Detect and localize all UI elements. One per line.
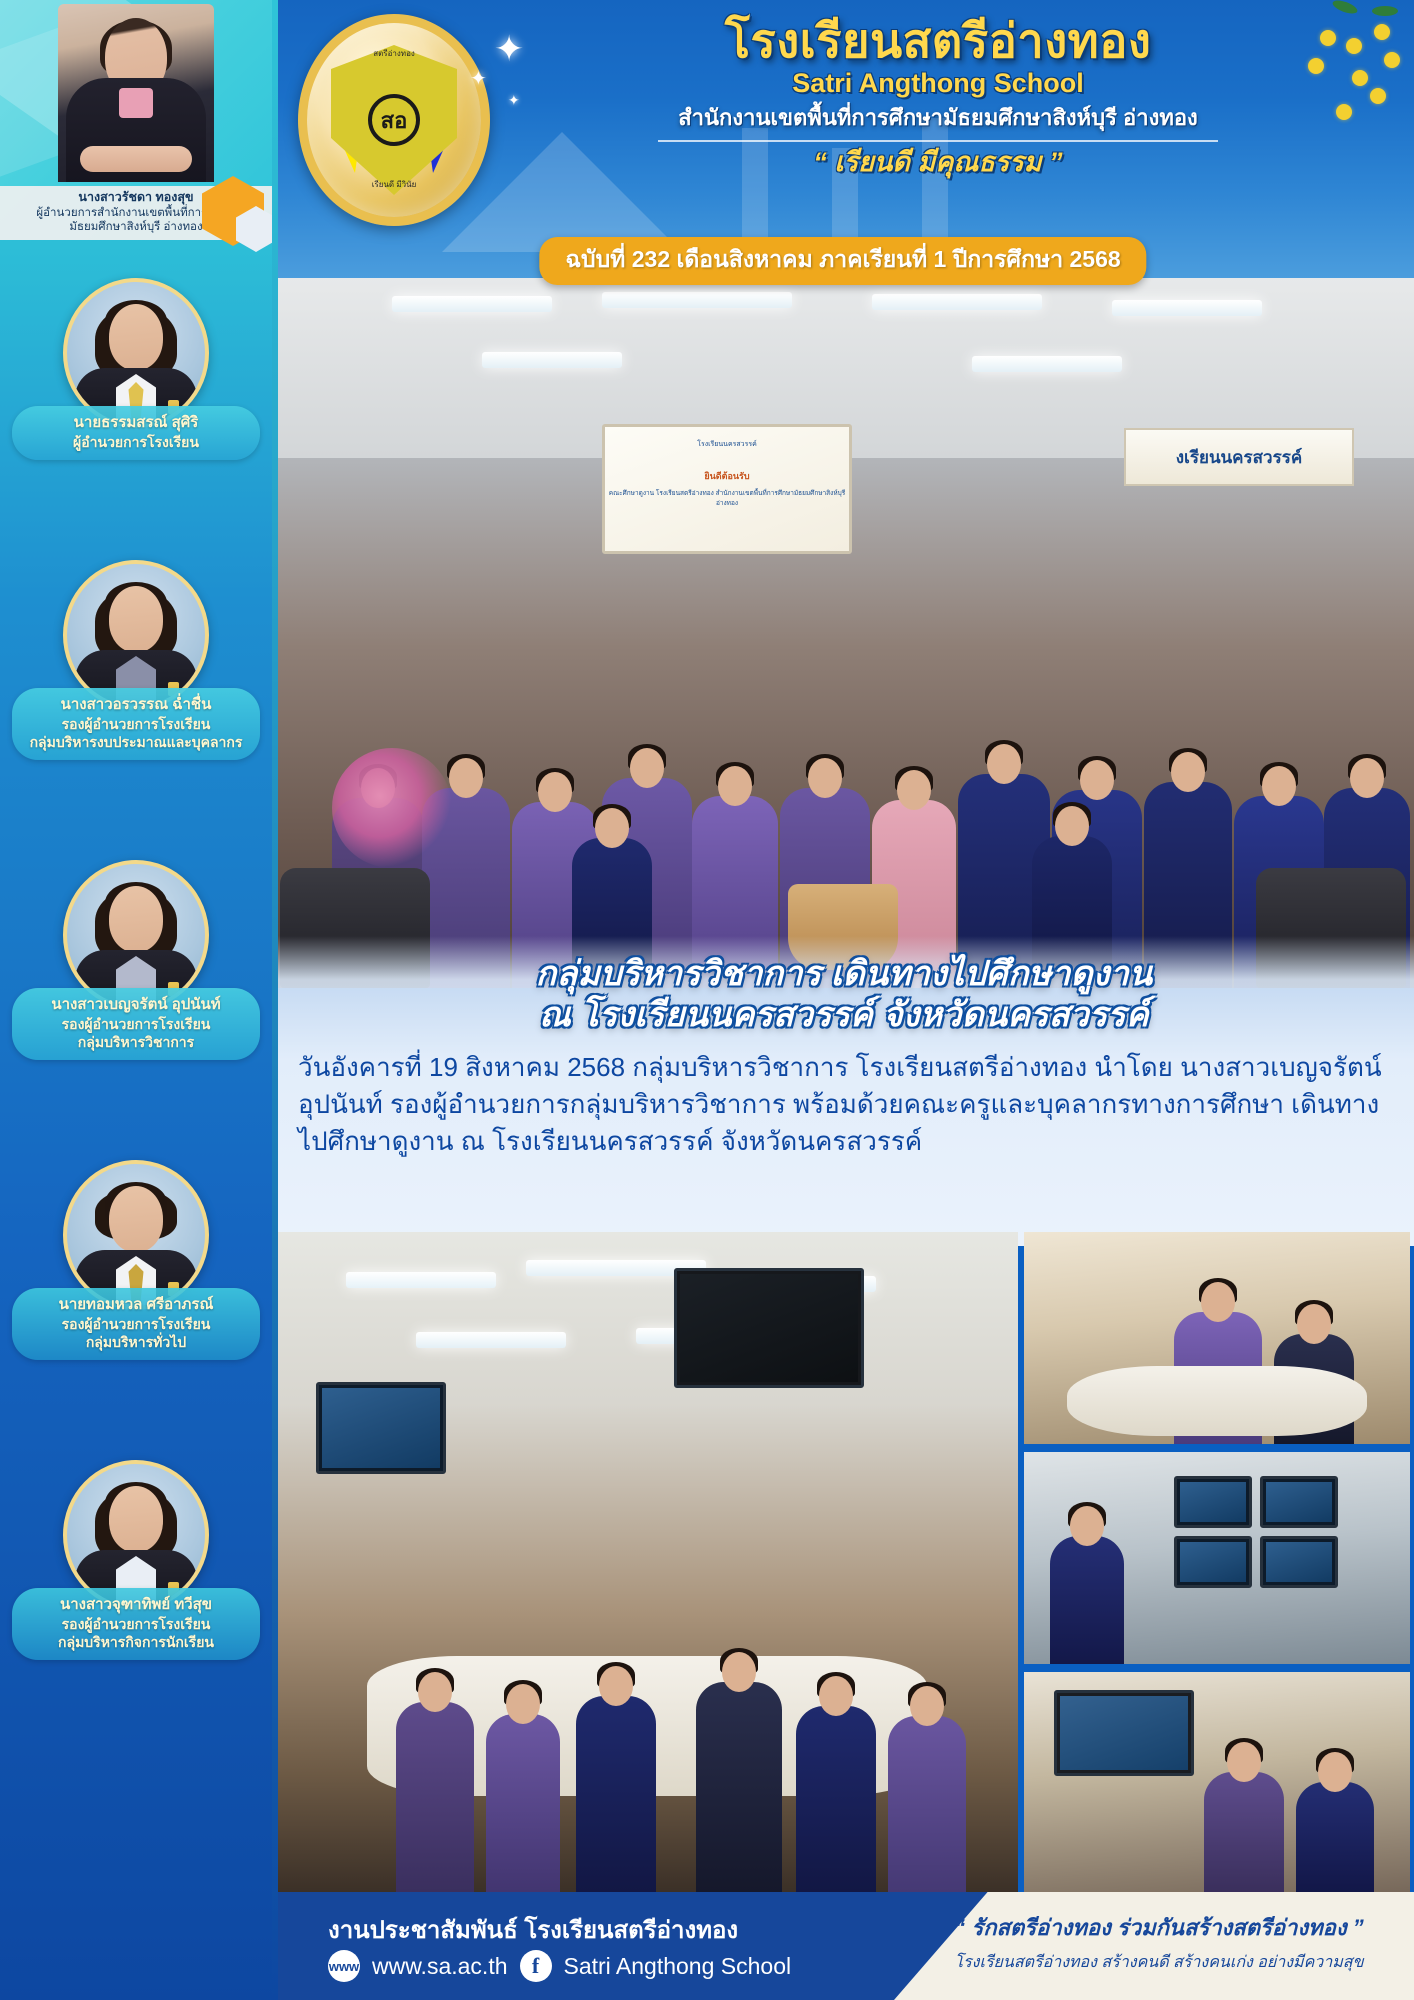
flower-decor: [332, 748, 452, 868]
article-headline-line1: กลุ่มบริหารวิชาการ เดินทางไปศึกษาดูงาน: [298, 954, 1390, 995]
photo-grid: [272, 1232, 1414, 1892]
grid-photo-bottom-right: [1024, 1672, 1410, 1892]
person-role-1: รองผู้อำนวยการโรงเรียน: [20, 1615, 252, 1633]
sidebar-divider: [272, 0, 278, 2000]
person-role-1: รองผู้อำนวยการโรงเรียน: [20, 715, 252, 733]
person-role-2: กลุ่มบริหารงบประมาณและบุคลากร: [20, 733, 252, 751]
sparkle-icon: ✦: [470, 66, 487, 91]
sidebar-person-0-caption: นายธรรมสรณ์ สุศิริ ผู้อำนวยการโรงเรียน: [12, 406, 260, 460]
poster-footer: งานประชาสัมพันธ์ โรงเรียนสตรีอ่างทอง www…: [272, 1892, 1414, 2000]
person-role-1: รองผู้อำนวยการโรงเรียน: [20, 1015, 252, 1033]
group-photo-people: [272, 558, 1414, 988]
footer-organization: งานประชาสัมพันธ์ โรงเรียนสตรีอ่างทอง: [328, 1910, 738, 1949]
header-text-block: โรงเรียนสตรีอ่างทอง Satri Angthong Schoo…: [508, 16, 1368, 178]
article-headline-line2: ณ โรงเรียนนครสวรรค์ จังหวัดนครสวรรค์: [298, 995, 1390, 1036]
person-name: นางสาวเบญจรัตน์ อุปนันท์: [20, 995, 252, 1015]
screen-welcome: ยินดีต้อนรับ: [605, 469, 849, 483]
screen-body: คณะศึกษาดูงาน โรงเรียนสตรีอ่างทอง สำนักง…: [605, 489, 849, 509]
area-office-label: สำนักงานเขตพื้นที่การศึกษามัธยมศึกษาสิงห…: [508, 104, 1368, 133]
sidebar-person-3-caption: นายทอมหวล ศรีอาภรณ์ รองผู้อำนวยการโรงเรี…: [12, 1288, 260, 1360]
sidebar-person-1-caption: นางสาวอรวรรณ ฉ่ำชื่น รองผู้อำนวยการโรงเร…: [12, 688, 260, 760]
person-role-2: กลุ่มบริหารกิจการนักเรียน: [20, 1633, 252, 1651]
logo-monogram: สอ: [368, 94, 420, 146]
newsletter-poster: นางสาวรัชดา ทองสุข ผู้อำนวยการสำนักงานเข…: [0, 0, 1414, 2000]
wall-banner: งเรียนนครสวรรค์: [1124, 428, 1354, 486]
header-rule: [658, 140, 1218, 142]
person-role-2: กลุ่มบริหารวิชาการ: [20, 1033, 252, 1051]
grid-photo-middle-right: [1024, 1452, 1410, 1664]
sidebar: นางสาวรัชดา ทองสุข ผู้อำนวยการสำนักงานเข…: [0, 0, 272, 2000]
grid-photo-main: [276, 1232, 1018, 1892]
person-role-2: กลุ่มบริหารทั่วไป: [20, 1333, 252, 1351]
footer-website[interactable]: www.sa.ac.th: [372, 1953, 508, 1980]
main-column: สอ สตรีอ่างทอง เรียนดี มีวินัย ✦ ✦ ✦ โรง…: [272, 0, 1414, 2000]
footer-motto: “ รักสตรีอ่างทอง ร่วมกันสร้างสตรีอ่างทอง…: [924, 1910, 1394, 1945]
person-name: นางสาวอรวรรณ ฉ่ำชื่น: [20, 695, 252, 715]
screen-title: โรงเรียนนครสวรรค์: [605, 439, 849, 450]
school-name-english: Satri Angthong School: [508, 67, 1368, 101]
school-name-thai: โรงเรียนสตรีอ่างทอง: [508, 16, 1368, 65]
www-icon: www: [328, 1950, 360, 1982]
director-office-photo: [58, 4, 214, 182]
hero-photo-group: โรงเรียนนครสวรรค์ ยินดีต้อนรับ คณะศึกษาด…: [272, 278, 1414, 988]
article-body: วันอังคารที่ 19 สิงหาคม 2568 กลุ่มบริหาร…: [298, 1049, 1390, 1160]
person-name: นายธรรมสรณ์ สุศิริ: [20, 413, 252, 433]
person-role-1: รองผู้อำนวยการโรงเรียน: [20, 1315, 252, 1333]
grid-photo-top-right: [1024, 1232, 1410, 1444]
sidebar-person-2-caption: นางสาวเบญจรัตน์ อุปนันท์ รองผู้อำนวยการโ…: [12, 988, 260, 1060]
person-name: นายทอมหวล ศรีอาภรณ์: [20, 1295, 252, 1315]
footer-sub-motto: โรงเรียนสตรีอ่างทอง สร้างคนดี สร้างคนเก่…: [924, 1950, 1394, 1975]
footer-facebook-name[interactable]: Satri Angthong School: [564, 1953, 792, 1980]
school-logo: สอ สตรีอ่างทอง เรียนดี มีวินัย: [298, 14, 490, 226]
article-block: กลุ่มบริหารวิชาการ เดินทางไปศึกษาดูงาน ณ…: [272, 936, 1414, 1246]
sidebar-person-4-caption: นางสาวจุฑาทิพย์ ทวีสุข รองผู้อำนวยการโรง…: [12, 1588, 260, 1660]
facebook-icon[interactable]: f: [520, 1950, 552, 1982]
person-role-1: ผู้อำนวยการโรงเรียน: [20, 433, 252, 451]
school-motto: “ เรียนดี มีคุณธรรม ”: [508, 146, 1368, 178]
welcome-screen: โรงเรียนนครสวรรค์ ยินดีต้อนรับ คณะศึกษาด…: [602, 424, 852, 554]
logo-arc-bottom-text: เรียนดี มีวินัย: [372, 178, 417, 191]
footer-contact-row: www www.sa.ac.th f Satri Angthong School: [328, 1950, 791, 1982]
person-name: นางสาวจุฑาทิพย์ ทวีสุข: [20, 1595, 252, 1615]
logo-arc-top-text: สตรีอ่างทอง: [373, 47, 415, 60]
issue-badge: ฉบับที่ 232 เดือนสิงหาคม ภาคเรียนที่ 1 ป…: [539, 237, 1146, 285]
